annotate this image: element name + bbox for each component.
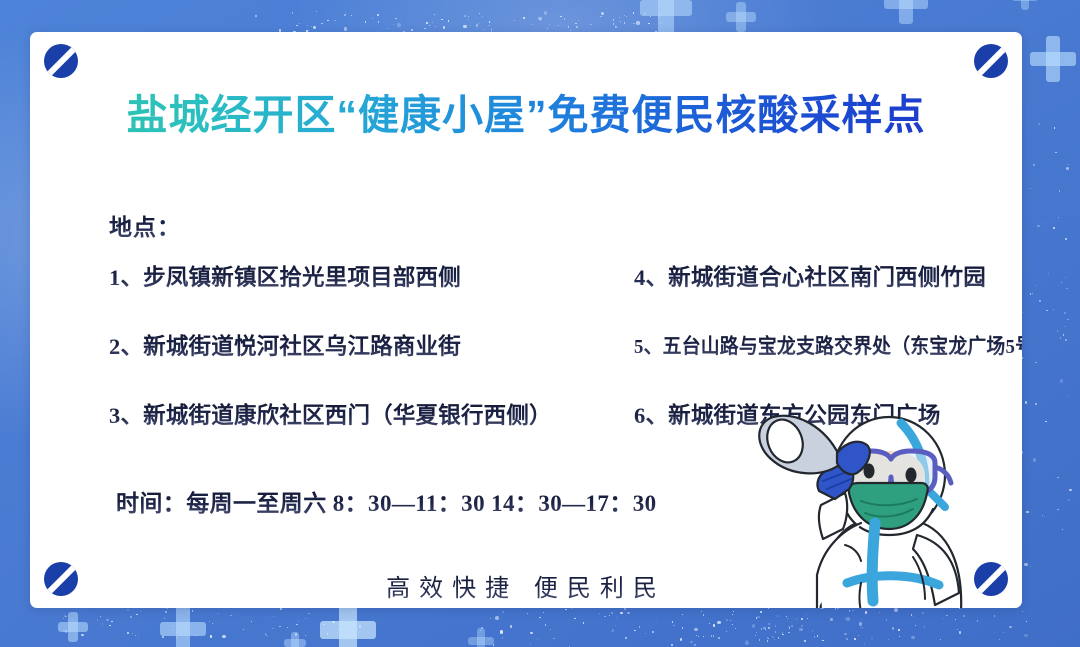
medical-cross-icon	[1030, 36, 1076, 82]
medical-worker-megaphone-illustration	[749, 397, 1014, 608]
list-item: 4、新城街道合心社区南门西侧竹园	[634, 260, 986, 292]
poster-card: 盐城经开区“健康小屋”免费便民核酸采样点 地点： 1、步凤镇新镇区拾光里项目部西…	[30, 32, 1022, 608]
slashed-circle-icon	[44, 44, 78, 78]
place-label: 地点：	[109, 208, 181, 242]
medical-cross-icon	[726, 2, 756, 32]
service-hours: 时间：每周一至周六 8：30—11：30 14：30—17：30	[116, 484, 657, 518]
list-item-number: 5、	[634, 336, 663, 358]
list-item: 2、新城街道悦河社区乌江路商业街	[109, 329, 461, 361]
list-item-text: 步凤镇新镇区拾光里项目部西侧	[143, 265, 461, 290]
list-item-number: 2、	[109, 334, 143, 359]
medical-cross-icon	[884, 0, 928, 24]
medical-cross-icon	[1012, 0, 1038, 10]
list-item-number: 4、	[634, 265, 668, 290]
medical-cross-icon	[160, 606, 206, 647]
list-item-text: 五台山路与宝龙支路交界处（东宝龙广场5号门门口）	[663, 336, 1022, 358]
list-row: 1、步凤镇新镇区拾光里项目部西侧 4、新城街道合心社区南门西侧竹园	[109, 260, 1009, 329]
list-item-text: 新城街道康欣社区西门（华夏银行西侧）	[143, 403, 552, 428]
list-item-text: 新城街道合心社区南门西侧竹园	[668, 265, 986, 290]
list-item-number: 3、	[109, 403, 143, 428]
list-item: 3、新城街道康欣社区西门（华夏银行西侧）	[109, 398, 552, 430]
poster-canvas: 盐城经开区“健康小屋”免费便民核酸采样点 地点： 1、步凤镇新镇区拾光里项目部西…	[0, 0, 1080, 647]
list-item-number: 6、	[634, 403, 668, 428]
medical-cross-icon	[58, 612, 88, 642]
slashed-circle-icon	[974, 44, 1008, 78]
medical-cross-icon	[284, 632, 306, 647]
list-item-number: 1、	[109, 265, 143, 290]
medical-cross-icon	[468, 628, 494, 647]
medical-cross-icon	[320, 602, 376, 647]
medical-cross-icon	[640, 0, 692, 34]
list-row: 2、新城街道悦河社区乌江路商业街 5、五台山路与宝龙支路交界处（东宝龙广场5号门…	[109, 329, 1009, 398]
list-item: 5、五台山路与宝龙支路交界处（东宝龙广场5号门门口）	[634, 329, 1022, 359]
list-item-text: 新城街道悦河社区乌江路商业街	[143, 334, 461, 359]
page-title: 盐城经开区“健康小屋”免费便民核酸采样点	[30, 81, 1022, 141]
list-item: 1、步凤镇新镇区拾光里项目部西侧	[109, 260, 461, 292]
